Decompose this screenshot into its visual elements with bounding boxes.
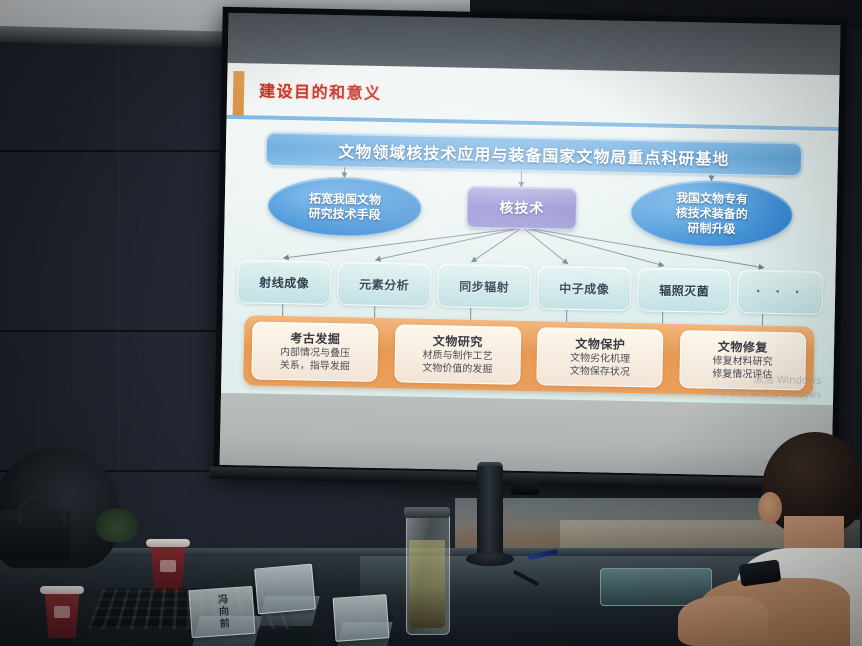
core-technology-node: 核技术 xyxy=(466,186,577,230)
coffee-cup-logo xyxy=(54,606,70,618)
application-detail: 文物价值的发掘 xyxy=(422,362,492,376)
application-card: 文物研究 材质与制作工艺 文物价值的发掘 xyxy=(394,324,521,385)
conference-room-photo: 建设目的和意义 xyxy=(0,0,862,646)
wall-seam xyxy=(118,32,119,472)
application-heading: 文物修复 xyxy=(718,339,768,356)
bag-handle xyxy=(18,495,66,524)
tech-box: 辐照灭菌 xyxy=(637,267,732,313)
slide-header-text: 文物领域核技术应用与装备国家文物局重点科研基地 xyxy=(338,138,729,170)
projection-screen: 建设目的和意义 xyxy=(213,7,846,489)
tech-box: 射线成像 xyxy=(237,259,332,305)
slide-title: 建设目的和意义 xyxy=(259,78,382,104)
attendee-ear xyxy=(758,492,782,524)
application-heading: 文物研究 xyxy=(433,333,483,350)
screen-pull-knob xyxy=(511,479,539,496)
tech-label: 辐照灭菌 xyxy=(659,281,709,299)
tech-box-ellipsis: · · · xyxy=(737,269,824,315)
coffee-cup-lid xyxy=(40,586,84,594)
application-card: 文物保护 文物劣化机理 文物保存状况 xyxy=(536,327,663,388)
slide-accent-bar xyxy=(233,71,245,117)
microphone-base xyxy=(466,552,514,566)
attendee-hand xyxy=(678,596,768,646)
tech-label: 元素分析 xyxy=(359,275,409,293)
nameplate-text: 冯向前 xyxy=(213,594,230,631)
goal-left-label: 拓宽我国文物研究技术手段 xyxy=(308,191,381,222)
tech-label: 同步辐射 xyxy=(459,277,509,295)
core-technology-label: 核技术 xyxy=(499,197,544,218)
tech-label: 射线成像 xyxy=(259,273,309,291)
microphone xyxy=(477,466,503,560)
nameplate xyxy=(254,564,316,615)
screen-surface: 建设目的和意义 xyxy=(220,13,841,477)
goal-right-label: 我国文物专有核技术装备的研制升级 xyxy=(675,190,748,236)
application-heading: 文物保护 xyxy=(575,336,625,353)
wall-seam xyxy=(0,150,230,152)
coffee-cup-lid xyxy=(146,539,190,547)
tech-box: 同步辐射 xyxy=(437,263,532,309)
goal-right-node: 我国文物专有核技术装备的研制升级 xyxy=(630,179,793,248)
goal-left-node: 拓宽我国文物研究技术手段 xyxy=(267,176,422,238)
tea-leaves xyxy=(409,540,445,628)
application-detail: 文物劣化机理 xyxy=(570,352,630,366)
coffee-cup-logo xyxy=(160,560,176,572)
powerpoint-slide: 建设目的和意义 xyxy=(221,63,839,405)
watermark-line2: 转到"设置"以激活 Windows xyxy=(707,388,822,403)
tea-jar-lid xyxy=(404,507,450,518)
tech-box: 元素分析 xyxy=(337,261,432,307)
wall-seam xyxy=(0,330,232,332)
slide-header-box: 文物领域核技术应用与装备国家文物局重点科研基地 xyxy=(266,132,803,177)
tech-label: 中子成像 xyxy=(559,279,609,297)
plant xyxy=(96,508,138,542)
tech-label-ellipsis: · · · xyxy=(756,284,805,300)
application-detail: 文物保存状况 xyxy=(570,365,630,379)
tech-box: 中子成像 xyxy=(537,265,632,311)
application-heading: 考古发掘 xyxy=(290,330,340,347)
application-detail: 关系，指导发掘 xyxy=(280,359,350,373)
application-detail: 修复材料研究 xyxy=(712,355,772,369)
technology-row: 射线成像 元素分析 同步辐射 中子成像 辐照灭菌 · · · xyxy=(237,259,824,313)
windows-activation-watermark: 激活 Windows 转到"设置"以激活 Windows xyxy=(707,373,822,403)
application-card: 考古发掘 内部情况与叠压 关系，指导发掘 xyxy=(252,321,379,382)
projector-empty-area xyxy=(220,393,833,477)
nameplate xyxy=(333,594,390,642)
nameplate: 冯向前 xyxy=(188,586,255,638)
